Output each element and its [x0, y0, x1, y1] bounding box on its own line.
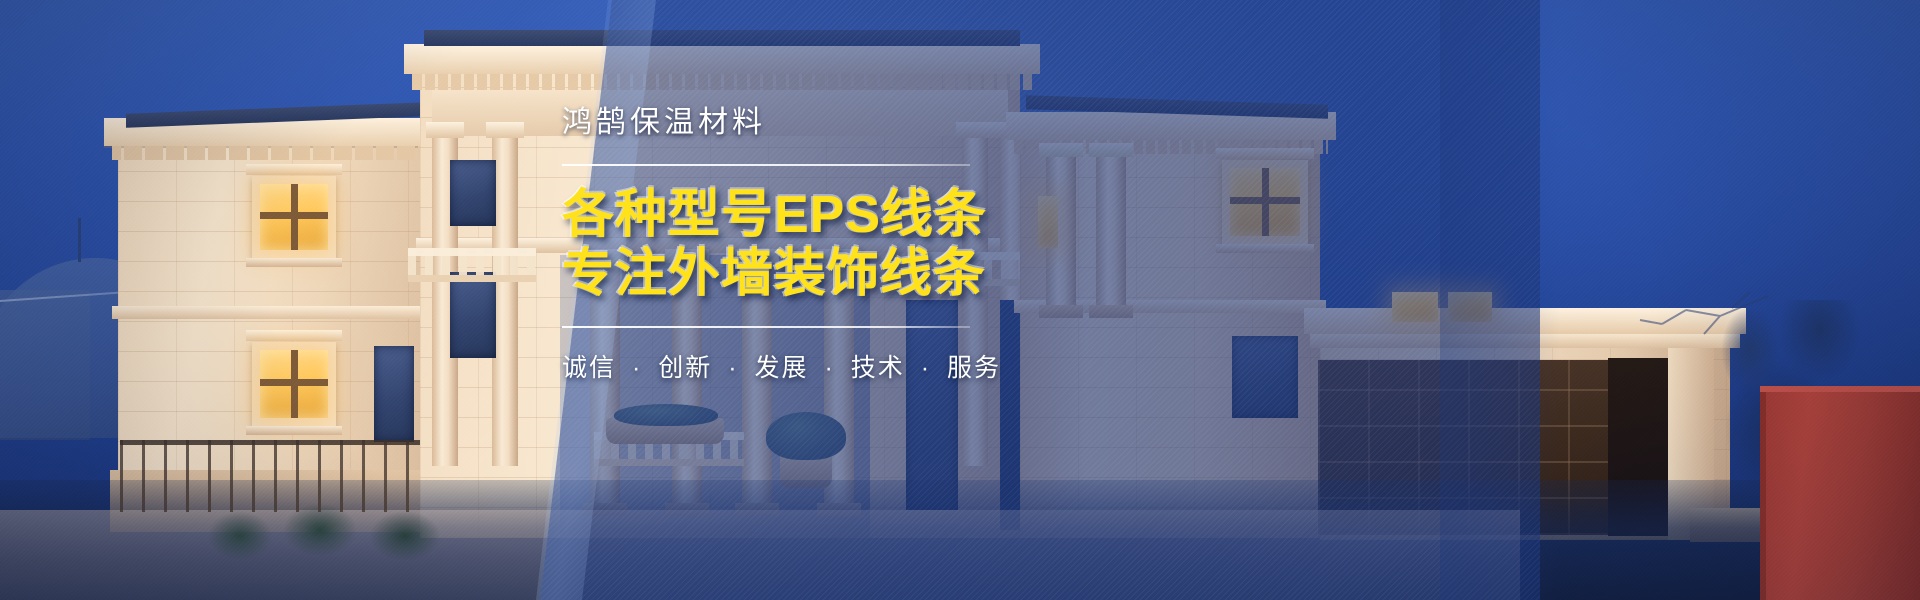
banner-text-block: 鸿鹄保温材料 各种型号EPS线条 专注外墙装饰线条 诚信 · 创新 · 发展 ·…: [562, 104, 1032, 384]
red-boundary-wall: [1760, 388, 1920, 600]
window-hood: [246, 330, 342, 341]
left-wing-dentil-molding: [112, 146, 428, 160]
window-frame: [252, 176, 336, 258]
iron-railing: [120, 440, 420, 512]
company-name: 鸿鹄保温材料: [562, 104, 1032, 142]
tagline-item-5: 服务: [947, 354, 1001, 382]
headline-line-2: 专注外墙装饰线条: [562, 245, 1032, 304]
tagline-item-3: 发展: [755, 354, 809, 382]
left-wing-string-course: [112, 306, 424, 319]
tagline-item-2: 创新: [658, 354, 712, 382]
balustrade: [408, 248, 536, 282]
hero-banner: 鸿鹄保温材料 各种型号EPS线条 专注外墙装饰线条 诚信 · 创新 · 发展 ·…: [0, 0, 1920, 600]
window-sill: [246, 426, 342, 435]
tagline-item-4: 技术: [851, 354, 905, 382]
unlit-window: [374, 346, 414, 442]
window-mullion-horizontal: [260, 379, 328, 386]
lit-window: [260, 184, 328, 250]
window-sill: [246, 258, 342, 267]
tagline-separator-1: ·: [625, 354, 649, 382]
tagline-item-1: 诚信: [562, 354, 616, 382]
tagline-separator-2: ·: [721, 354, 745, 382]
bare-branch: [1600, 290, 1770, 380]
divider-top: [562, 164, 970, 166]
unlit-window: [450, 160, 496, 226]
headline-line-1: 各种型号EPS线条: [562, 186, 1032, 245]
tagline-separator-4: ·: [914, 354, 938, 382]
lit-window: [260, 350, 328, 418]
window-hood: [246, 164, 342, 175]
tagline-separator-3: ·: [817, 354, 841, 382]
tagline: 诚信 · 创新 · 发展 · 技术 · 服务: [562, 348, 1032, 384]
window-frame: [252, 342, 336, 426]
unlit-window: [450, 272, 496, 358]
red-wall-cap: [1760, 386, 1920, 392]
divider-bottom: [562, 326, 970, 328]
headline-group: 各种型号EPS线条 专注外墙装饰线条: [562, 186, 1032, 305]
overlay-right-fade: [1440, 0, 1560, 600]
window-mullion-horizontal: [260, 212, 328, 219]
